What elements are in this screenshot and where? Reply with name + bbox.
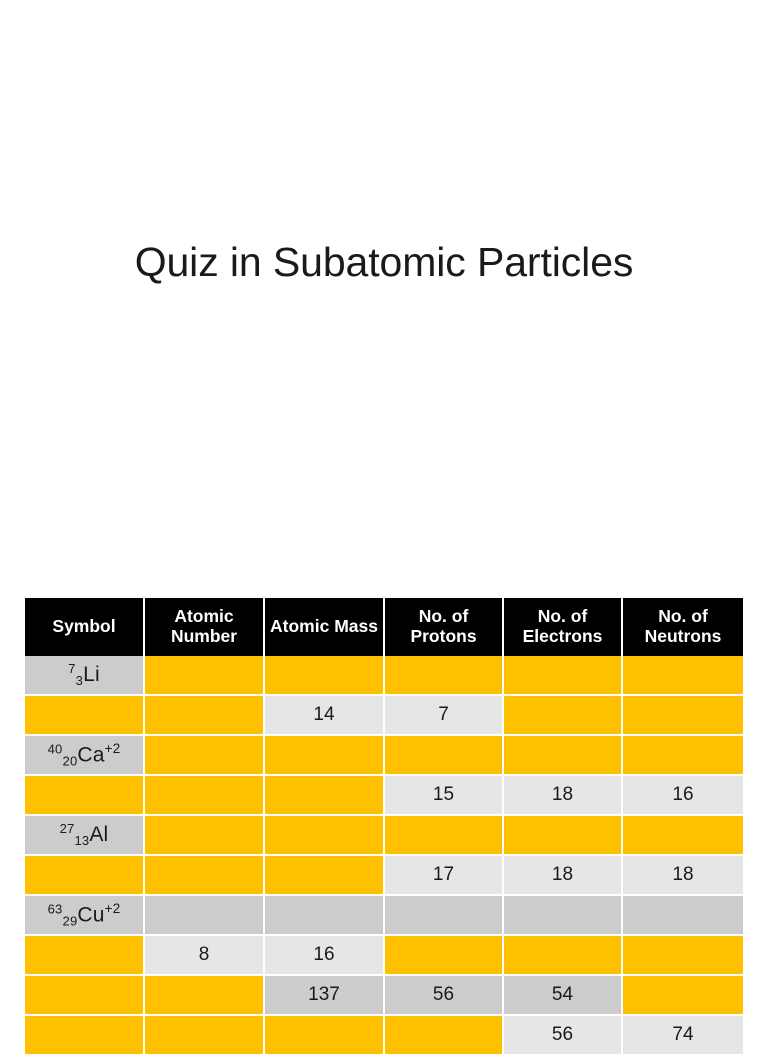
table-cell-atomic_mass[interactable] (265, 816, 385, 856)
isotope-symbol: 2713Al (60, 823, 109, 847)
table-body: 73Li1474020Ca+21518162713Al1718186329Cu+… (25, 656, 743, 1056)
table-cell-atomic_number[interactable] (145, 816, 265, 856)
table-row: 4020Ca+2 (25, 736, 743, 776)
table-cell-symbol[interactable]: 73Li (25, 656, 145, 696)
table-cell-electrons[interactable] (504, 696, 623, 736)
column-header-atomic-number: Atomic Number (145, 598, 265, 656)
table-cell-neutrons[interactable]: 74 (623, 1016, 743, 1056)
table-row: 151816 (25, 776, 743, 816)
table-cell-protons[interactable] (385, 936, 504, 976)
table-cell-neutrons[interactable] (623, 736, 743, 776)
table-row: 5674 (25, 1016, 743, 1056)
atomic-number: 29 (63, 914, 78, 929)
mass-number: 63 (48, 902, 63, 917)
table-cell-atomic_number[interactable] (145, 696, 265, 736)
table-cell-atomic_mass[interactable] (265, 856, 385, 896)
column-header-protons: No. of Protons (385, 598, 504, 656)
mass-number: 7 (68, 661, 75, 676)
table-cell-protons[interactable] (385, 1016, 504, 1056)
table-cell-atomic_mass[interactable]: 137 (265, 976, 385, 1016)
column-header-neutrons: No. of Neutrons (623, 598, 743, 656)
table-cell-neutrons[interactable] (623, 936, 743, 976)
table-cell-atomic_mass[interactable] (265, 1016, 385, 1056)
table-cell-neutrons[interactable] (623, 976, 743, 1016)
table-row: 73Li (25, 656, 743, 696)
ionic-charge: +2 (105, 741, 121, 756)
table-cell-symbol[interactable] (25, 936, 145, 976)
table-cell-symbol[interactable] (25, 1016, 145, 1056)
table-cell-neutrons[interactable]: 18 (623, 856, 743, 896)
table-header-row: Symbol Atomic Number Atomic Mass No. of … (25, 598, 743, 656)
table-header: Symbol Atomic Number Atomic Mass No. of … (25, 598, 743, 656)
table-cell-protons[interactable] (385, 816, 504, 856)
table-cell-protons[interactable]: 17 (385, 856, 504, 896)
element-symbol: Cu (77, 904, 104, 927)
column-header-electrons: No. of Electrons (504, 598, 623, 656)
element-symbol: Ca (77, 744, 104, 767)
table-cell-protons[interactable]: 15 (385, 776, 504, 816)
table-cell-atomic_mass[interactable]: 16 (265, 936, 385, 976)
table-cell-electrons[interactable]: 54 (504, 976, 623, 1016)
table-cell-symbol[interactable] (25, 776, 145, 816)
table-cell-electrons[interactable] (504, 656, 623, 696)
column-header-atomic-mass: Atomic Mass (265, 598, 385, 656)
table-cell-electrons[interactable]: 18 (504, 776, 623, 816)
table-cell-atomic_mass[interactable] (265, 896, 385, 936)
table-cell-electrons[interactable] (504, 896, 623, 936)
ionic-charge: +2 (105, 901, 121, 916)
table-row: 816 (25, 936, 743, 976)
table-cell-atomic_number[interactable] (145, 776, 265, 816)
table-cell-symbol[interactable] (25, 856, 145, 896)
atomic-number: 13 (74, 833, 89, 848)
atomic-number: 3 (76, 673, 83, 688)
mass-number: 27 (60, 821, 75, 836)
table-cell-protons[interactable] (385, 896, 504, 936)
table-cell-electrons[interactable]: 56 (504, 1016, 623, 1056)
isotope-symbol: 4020Ca+2 (48, 741, 121, 767)
table-cell-atomic_number[interactable] (145, 736, 265, 776)
subatomic-particles-table: Symbol Atomic Number Atomic Mass No. of … (25, 598, 743, 1056)
isotope-symbol: 6329Cu+2 (48, 901, 121, 927)
table-cell-symbol[interactable] (25, 976, 145, 1016)
table-cell-electrons[interactable] (504, 936, 623, 976)
mass-number: 40 (48, 742, 63, 757)
table-cell-symbol[interactable]: 4020Ca+2 (25, 736, 145, 776)
table-row: 1375654 (25, 976, 743, 1016)
element-symbol: Al (89, 823, 108, 846)
table-cell-electrons[interactable] (504, 736, 623, 776)
table-cell-symbol[interactable]: 2713Al (25, 816, 145, 856)
table-cell-protons[interactable]: 7 (385, 696, 504, 736)
isotope-symbol: 73Li (68, 663, 100, 687)
table-cell-atomic_number[interactable] (145, 856, 265, 896)
table-cell-atomic_number[interactable] (145, 976, 265, 1016)
slide-canvas: Quiz in Subatomic Particles Symbol Atomi… (0, 0, 768, 1024)
table-cell-atomic_number[interactable] (145, 1016, 265, 1056)
table-cell-protons[interactable]: 56 (385, 976, 504, 1016)
table-cell-electrons[interactable] (504, 816, 623, 856)
element-symbol: Li (83, 663, 100, 686)
table-cell-protons[interactable] (385, 736, 504, 776)
table-cell-neutrons[interactable] (623, 816, 743, 856)
table-cell-atomic_number[interactable] (145, 896, 265, 936)
table-cell-atomic_mass[interactable] (265, 736, 385, 776)
table-cell-atomic_number[interactable]: 8 (145, 936, 265, 976)
table-cell-neutrons[interactable] (623, 696, 743, 736)
table-cell-symbol[interactable] (25, 696, 145, 736)
page-title: Quiz in Subatomic Particles (0, 239, 768, 286)
quiz-table-container: Symbol Atomic Number Atomic Mass No. of … (25, 598, 743, 1056)
table-cell-neutrons[interactable] (623, 656, 743, 696)
table-row: 171818 (25, 856, 743, 896)
table-cell-electrons[interactable]: 18 (504, 856, 623, 896)
table-row: 147 (25, 696, 743, 736)
column-header-symbol: Symbol (25, 598, 145, 656)
atomic-number: 20 (63, 754, 78, 769)
table-cell-protons[interactable] (385, 656, 504, 696)
table-cell-atomic_number[interactable] (145, 656, 265, 696)
table-cell-symbol[interactable]: 6329Cu+2 (25, 896, 145, 936)
table-cell-atomic_mass[interactable]: 14 (265, 696, 385, 736)
table-cell-atomic_mass[interactable] (265, 776, 385, 816)
table-cell-atomic_mass[interactable] (265, 656, 385, 696)
table-cell-neutrons[interactable]: 16 (623, 776, 743, 816)
table-cell-neutrons[interactable] (623, 896, 743, 936)
table-row: 2713Al (25, 816, 743, 856)
table-row: 6329Cu+2 (25, 896, 743, 936)
